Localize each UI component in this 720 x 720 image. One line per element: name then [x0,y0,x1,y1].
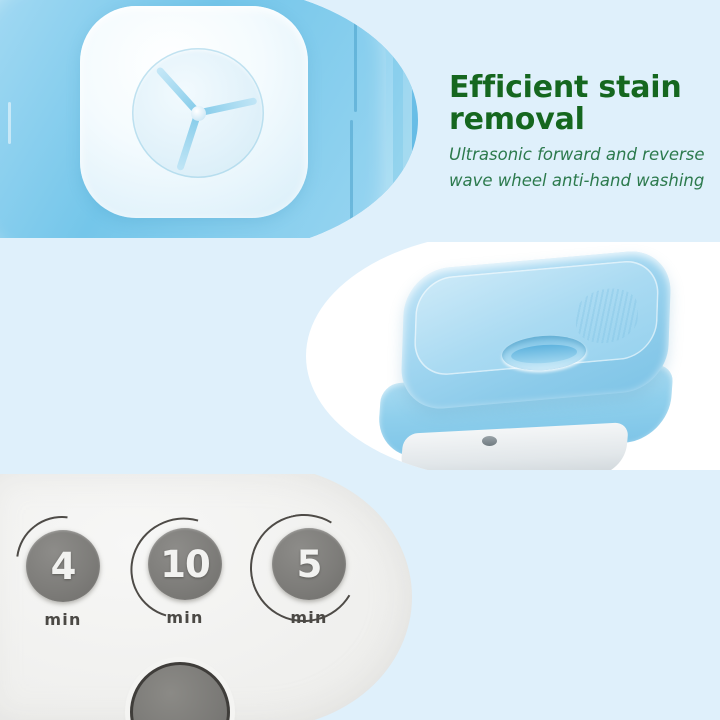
timer-button-unit: min [148,608,222,627]
washer-inner-tub [80,6,308,218]
product-photo-open-tub [0,0,418,238]
feature-heading-stain-removal: Efficient stain removal [449,72,709,136]
timer-button-unit: min [26,610,100,629]
washer-body-seam [354,0,357,112]
washer-lid-ridges [575,286,639,346]
wave-wheel-pulsator-icon [132,48,264,178]
pulsator-blade [197,97,257,116]
infographic-page: Efficient stain removal Ultrasonic forwa… [0,0,720,720]
feature-section-timing: 4 min 10 min 5 min Timing [0,474,720,720]
timer-button-value: 5 [297,546,322,583]
timer-button-4-min[interactable]: 4 min [12,518,116,630]
pulsator-blade [176,112,201,171]
timer-button-face: 10 [148,528,222,600]
feature-section-foldable: Foldable Travel, easy to put into the su… [0,242,720,470]
pulsator-hub [191,106,206,121]
timer-button-value: 4 [51,548,76,585]
timer-button-value: 10 [160,546,210,583]
product-photo-control-panel: 4 min 10 min 5 min [0,474,412,720]
washer-base-knob [482,436,497,446]
feature-body-stain-removal: Ultrasonic forward and reverse wave whee… [449,142,709,195]
feature-section-stain-removal: Efficient stain removal Ultrasonic forwa… [0,0,720,238]
timer-button-face: 4 [26,530,100,602]
timer-button-5-min[interactable]: 5 min [258,516,362,628]
timer-button-unit: min [272,608,346,627]
washer-body-seam [350,120,353,238]
timer-button-face: 5 [272,528,346,600]
feature-body-line: wave wheel anti-hand washing [449,171,704,190]
washer-body-highlight [8,102,11,144]
power-button[interactable] [130,662,230,720]
feature-body-line: Ultrasonic forward and reverse [449,145,705,164]
washer-lid [400,248,672,412]
timer-button-10-min[interactable]: 10 min [134,516,238,628]
product-photo-folded-washer [306,242,720,470]
feature-copy-stain-removal: Efficient stain removal Ultrasonic forwa… [449,72,709,195]
